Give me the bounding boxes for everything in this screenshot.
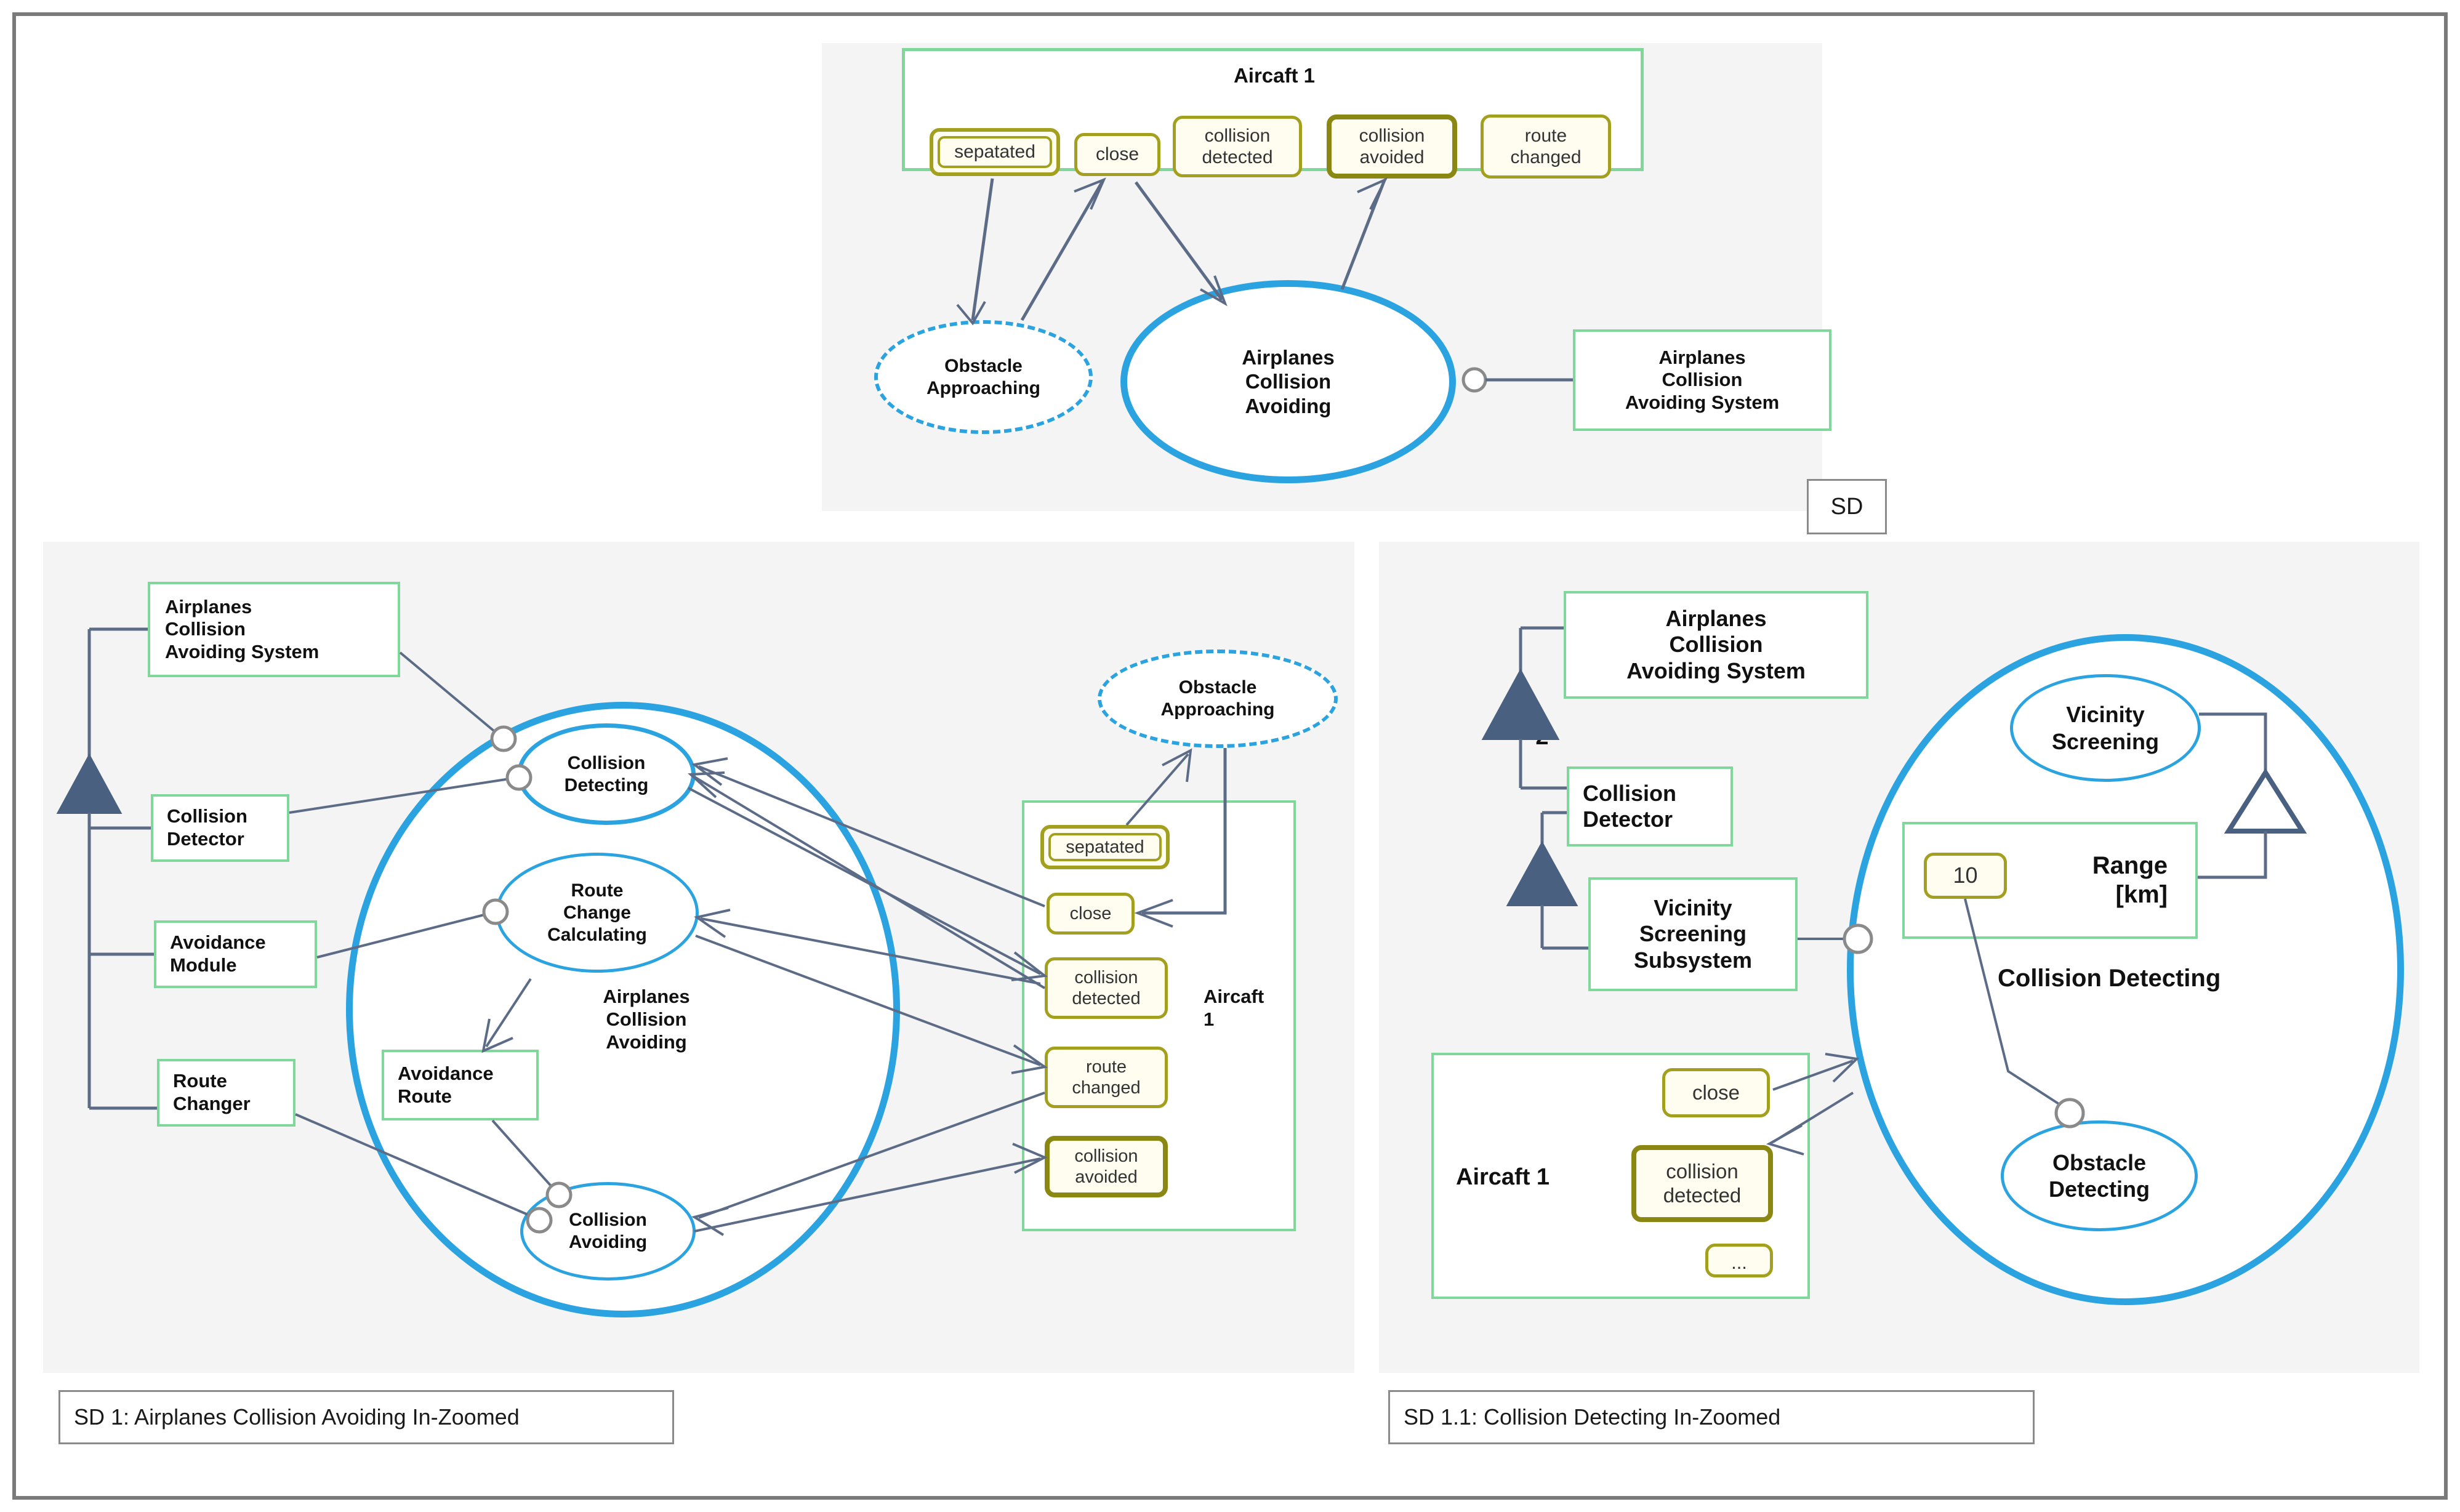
sd11-state-range-value[interactable]: 10 xyxy=(1924,853,2007,899)
sd1-obj4-line1: Avoidance xyxy=(398,1063,494,1085)
top-aircraft-box-title: Aircaft 1 xyxy=(1151,63,1397,88)
sd1-obj2-line2: Module xyxy=(170,954,237,977)
sd1-zoomed-process-label: Airplanes Collision Avoiding xyxy=(545,985,748,1054)
sd11-obj0-line3: Avoiding System xyxy=(1626,658,1806,684)
sd1-state-cd-line1: collision xyxy=(1074,967,1138,988)
sd11-state-close-label: close xyxy=(1692,1081,1740,1105)
sd1-aircraft-box-title: Aircaft 1 xyxy=(1204,985,1314,1031)
sd1-state-sepatated[interactable]: sepatated xyxy=(1040,825,1170,869)
top-process-obstacle-approaching-line1: Obstacle xyxy=(944,355,1023,377)
top-state-route-changed-line2: changed xyxy=(1510,147,1581,168)
sd1-object-airplanes-collision-avoiding-system[interactable]: Airplanes Collision Avoiding System xyxy=(148,582,400,677)
sd11-obj1-line1: Collision xyxy=(1583,781,1676,806)
sd1-process-collision-detecting[interactable]: Collision Detecting xyxy=(517,723,696,825)
sd11-obj2-line3: Subsystem xyxy=(1634,947,1752,973)
sd11-object-vicinity-screening-subsystem[interactable]: Vicinity Screening Subsystem xyxy=(1588,877,1798,991)
sd1-obj1-line1: Collision xyxy=(167,805,247,828)
sd11-state-collision-detected[interactable]: collision detected xyxy=(1631,1145,1773,1222)
sd11-range-line2: [km] xyxy=(2116,880,2168,909)
top-state-route-changed-line1: route xyxy=(1525,125,1567,147)
sd1-state-route-changed[interactable]: route changed xyxy=(1045,1047,1168,1108)
sd1-obj2-line1: Avoidance xyxy=(170,931,266,954)
sd1-sub1-line2: Change xyxy=(563,902,631,924)
sd11-process-obstacle-detecting[interactable]: Obstacle Detecting xyxy=(2001,1120,2198,1231)
sd1-sub1-line3: Calculating xyxy=(547,924,647,946)
sd11-state-ellipsis[interactable]: ... xyxy=(1705,1244,1773,1277)
sd11-state-cd-line1: collision xyxy=(1666,1160,1738,1184)
sd1-caption[interactable]: SD 1: Airplanes Collision Avoiding In-Zo… xyxy=(58,1390,674,1444)
sd1-state-ca-line2: avoided xyxy=(1075,1167,1138,1188)
sd11-sub0-line2: Screening xyxy=(2052,728,2159,755)
sd1-sub0-line2: Detecting xyxy=(565,774,649,797)
sd11-caption[interactable]: SD 1.1: Collision Detecting In-Zoomed xyxy=(1388,1390,2035,1444)
sd11-object-collision-detector[interactable]: Collision Detector xyxy=(1567,766,1733,846)
top-process-line3: Avoiding xyxy=(1245,394,1332,419)
sd11-caption-label: SD 1.1: Collision Detecting In-Zoomed xyxy=(1404,1404,1780,1430)
sd1-env-line2: Approaching xyxy=(1161,699,1275,721)
top-state-sepatated-label: sepatated xyxy=(938,136,1052,168)
sd1-state-rc-line1: route xyxy=(1086,1056,1127,1077)
sd1-obj3-line2: Changer xyxy=(173,1093,251,1116)
sd11-obj0-line2: Collision xyxy=(1670,632,1763,657)
sd1-process-route-change-calculating[interactable]: Route Change Calculating xyxy=(496,853,699,973)
sd11-object-airplanes-collision-avoiding-system[interactable]: Airplanes Collision Avoiding System xyxy=(1564,591,1868,699)
sd11-range-line1: Range xyxy=(2092,851,2168,880)
top-state-collision-avoided-line1: collision xyxy=(1359,125,1425,147)
top-state-collision-avoided[interactable]: collision avoided xyxy=(1327,115,1457,179)
sd1-sub0-line1: Collision xyxy=(568,752,646,774)
top-state-collision-detected[interactable]: collision detected xyxy=(1173,116,1302,177)
sd1-obj1-line2: Detector xyxy=(167,828,244,851)
sd1-state-collision-detected[interactable]: collision detected xyxy=(1045,957,1168,1019)
sd11-state-ellipsis-label: ... xyxy=(1731,1252,1747,1274)
sd1-object-avoidance-route[interactable]: Avoidance Route xyxy=(382,1050,539,1120)
top-state-collision-detected-line1: collision xyxy=(1205,125,1271,147)
sd11-aircraft-box-title: Aircaft 1 xyxy=(1456,1164,1604,1192)
sd11-multiplicity-label: 2 xyxy=(1527,723,1558,752)
top-state-collision-detected-line2: detected xyxy=(1202,147,1272,168)
sd11-process-vicinity-screening[interactable]: Vicinity Screening xyxy=(2010,674,2201,782)
sd1-state-ca-line1: collision xyxy=(1074,1146,1138,1167)
sd1-state-cd-line2: detected xyxy=(1072,988,1140,1009)
sd11-sub0-line1: Vicinity xyxy=(2066,701,2144,728)
sd1-obj0-line2: Collision xyxy=(165,618,246,641)
top-state-route-changed[interactable]: route changed xyxy=(1481,115,1611,179)
sd1-obj4-line2: Route xyxy=(398,1085,452,1108)
sd1-object-collision-detector[interactable]: Collision Detector xyxy=(151,794,289,862)
sd1-zoomed-label-line2: Collision xyxy=(606,1008,687,1030)
sd1-state-rc-line2: changed xyxy=(1072,1077,1140,1098)
sd1-process-obstacle-approaching[interactable]: Obstacle Approaching xyxy=(1098,649,1338,748)
sd11-state-close[interactable]: close xyxy=(1662,1068,1770,1117)
sd11-obj1-line2: Detector xyxy=(1583,806,1673,832)
sd1-env-line1: Obstacle xyxy=(1179,677,1257,699)
top-process-obstacle-approaching[interactable]: Obstacle Approaching xyxy=(874,320,1093,434)
sd11-obj2-line2: Screening xyxy=(1639,921,1747,947)
top-state-collision-avoided-line2: avoided xyxy=(1359,147,1424,168)
sd1-obj0-line3: Avoiding System xyxy=(165,641,319,664)
sd1-sub1-line1: Route xyxy=(571,880,624,902)
top-object-line3: Avoiding System xyxy=(1625,392,1779,414)
top-process-obstacle-approaching-line2: Approaching xyxy=(927,377,1040,400)
sd11-obj2-line1: Vicinity xyxy=(1654,895,1732,921)
sd1-obj3-line1: Route xyxy=(173,1070,227,1093)
sd11-obj0-line1: Airplanes xyxy=(1665,606,1766,632)
top-object-line2: Collision xyxy=(1662,369,1743,392)
diagram-canvas: Aircaft 1 sepatated close collision dete… xyxy=(0,0,2460,1512)
sd1-state-close-label: close xyxy=(1070,903,1112,924)
top-process-line1: Airplanes xyxy=(1242,345,1334,370)
sd1-sub2-line1: Collision xyxy=(569,1209,647,1231)
sd1-caption-label: SD 1: Airplanes Collision Avoiding In-Zo… xyxy=(74,1404,520,1430)
sd1-zoomed-label-line1: Airplanes xyxy=(603,986,689,1007)
top-process-airplanes-collision-avoiding[interactable]: Airplanes Collision Avoiding xyxy=(1120,280,1456,483)
top-object-airplanes-collision-avoiding-system[interactable]: Airplanes Collision Avoiding System xyxy=(1573,329,1831,431)
sd11-range-value-label: 10 xyxy=(1953,863,1977,888)
sd-chip[interactable]: SD xyxy=(1807,479,1887,534)
sd1-state-sepatated-label: sepatated xyxy=(1048,833,1162,861)
sd1-state-collision-avoided[interactable]: collision avoided xyxy=(1045,1136,1168,1197)
sd-chip-label: SD xyxy=(1831,494,1863,520)
sd1-object-route-changer[interactable]: Route Changer xyxy=(157,1059,295,1127)
sd11-zoomed-process-label: Collision Detecting xyxy=(1998,963,2305,993)
top-object-line1: Airplanes xyxy=(1658,347,1745,369)
sd1-object-avoidance-module[interactable]: Avoidance Module xyxy=(154,920,317,988)
top-state-close[interactable]: close xyxy=(1074,133,1160,176)
sd1-obj0-line1: Airplanes xyxy=(165,596,252,619)
top-process-line2: Collision xyxy=(1245,369,1331,394)
top-state-close-label: close xyxy=(1096,143,1139,165)
sd1-sub2-line2: Avoiding xyxy=(569,1231,647,1253)
sd1-zoomed-label-line3: Avoiding xyxy=(606,1031,686,1053)
sd11-sub1-line1: Obstacle xyxy=(2052,1149,2146,1176)
sd1-aircraft-title-line2: 1 xyxy=(1204,1008,1214,1030)
top-state-sepatated[interactable]: sepatated xyxy=(930,128,1060,176)
sd1-aircraft-title-line1: Aircaft xyxy=(1204,986,1264,1007)
sd11-state-cd-line2: detected xyxy=(1663,1184,1742,1208)
sd1-process-collision-avoiding[interactable]: Collision Avoiding xyxy=(520,1182,696,1281)
sd1-state-close[interactable]: close xyxy=(1047,893,1135,935)
sd11-sub1-line2: Detecting xyxy=(2049,1176,2150,1202)
